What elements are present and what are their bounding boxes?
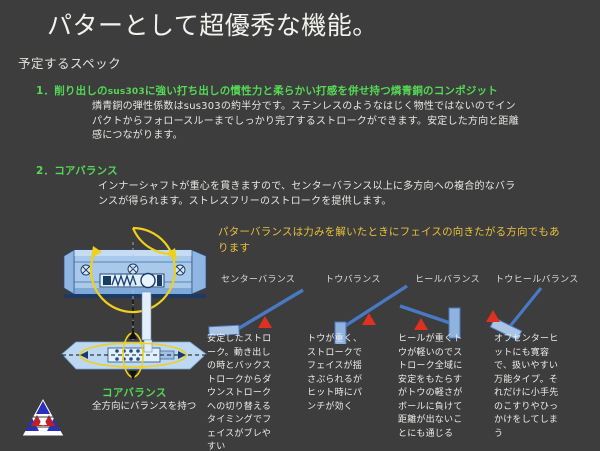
spec-item-1-number: 1．: [36, 85, 54, 97]
spec-item-1-heading: 1．削り出しのsus303に強い打ち出しの慣性力と柔らかい打感を併せ持つ燐青銅の…: [36, 83, 498, 98]
spec-item-2-heading-pre: コアバランス: [54, 165, 118, 177]
core-balance-label: コアバランス: [102, 385, 167, 400]
balance-type-toe-heel-description: オフセンターヒットにも寛容で、扱いやすい万能タイプ。それだけに小手先のこすりやひ…: [494, 333, 566, 441]
balance-type-center-description: 安定したストローク。動き出しの時とバックストロークからダウンストロークへの切り替…: [207, 333, 277, 451]
spec-item-1-body: 燐青銅の弾性係数はsus303の約半分です。ステンレスのようなはじく物性ではない…: [92, 100, 522, 144]
spec-item-2-body: インナーシャフトが重心を貫きますので、センターバランス以上に多方向への複合的なバ…: [98, 180, 518, 209]
core-balance-description: 全方向にバランスを持つ: [92, 400, 202, 413]
spec-item-1-heading-post: に強い打ち出しの慣性力と柔らかい打感を併せ持つ燐青銅のコンポジット: [145, 85, 498, 97]
putter-head-top-view: [62, 330, 208, 380]
balance-callout-text: パターバランスは力みを解いたときにフェイスの向きたがる方向でもあります: [218, 225, 568, 257]
red-triangle-marker-icon: [258, 316, 272, 328]
page-subtitle: 予定するスペック: [18, 53, 121, 72]
putter-shaft: [142, 292, 151, 340]
spec-item-1-heading-pre: 削り出しの: [54, 85, 108, 97]
spec-item-1-heading-small: sus303: [108, 87, 145, 97]
triangle-fractal-logo: [21, 396, 65, 438]
red-triangle-marker-icon: [486, 310, 500, 322]
balance-type-toe-description: トウが重く、ストロークでフェイスが揺さぶられるがヒット時にパンチが効く: [307, 333, 369, 414]
red-triangle-marker-icon: [414, 318, 428, 330]
spec-item-2-number: 2．: [36, 165, 54, 177]
page-title: パターとして超優秀な機能。: [47, 6, 378, 42]
balance-type-heel-description: ヒールが重くトウが軽いのでストローク全域に安定をもたらすがトウの軽さがボールに負…: [398, 333, 470, 441]
slide-canvas: パターとして超優秀な機能。 予定するスペック 1．削り出しのsus303に強い打…: [0, 0, 600, 451]
spec-item-2-heading: 2．コアバランス: [36, 163, 118, 178]
putter-head-side-view: [64, 242, 206, 340]
putter-cutaway-diagram: [60, 222, 225, 397]
